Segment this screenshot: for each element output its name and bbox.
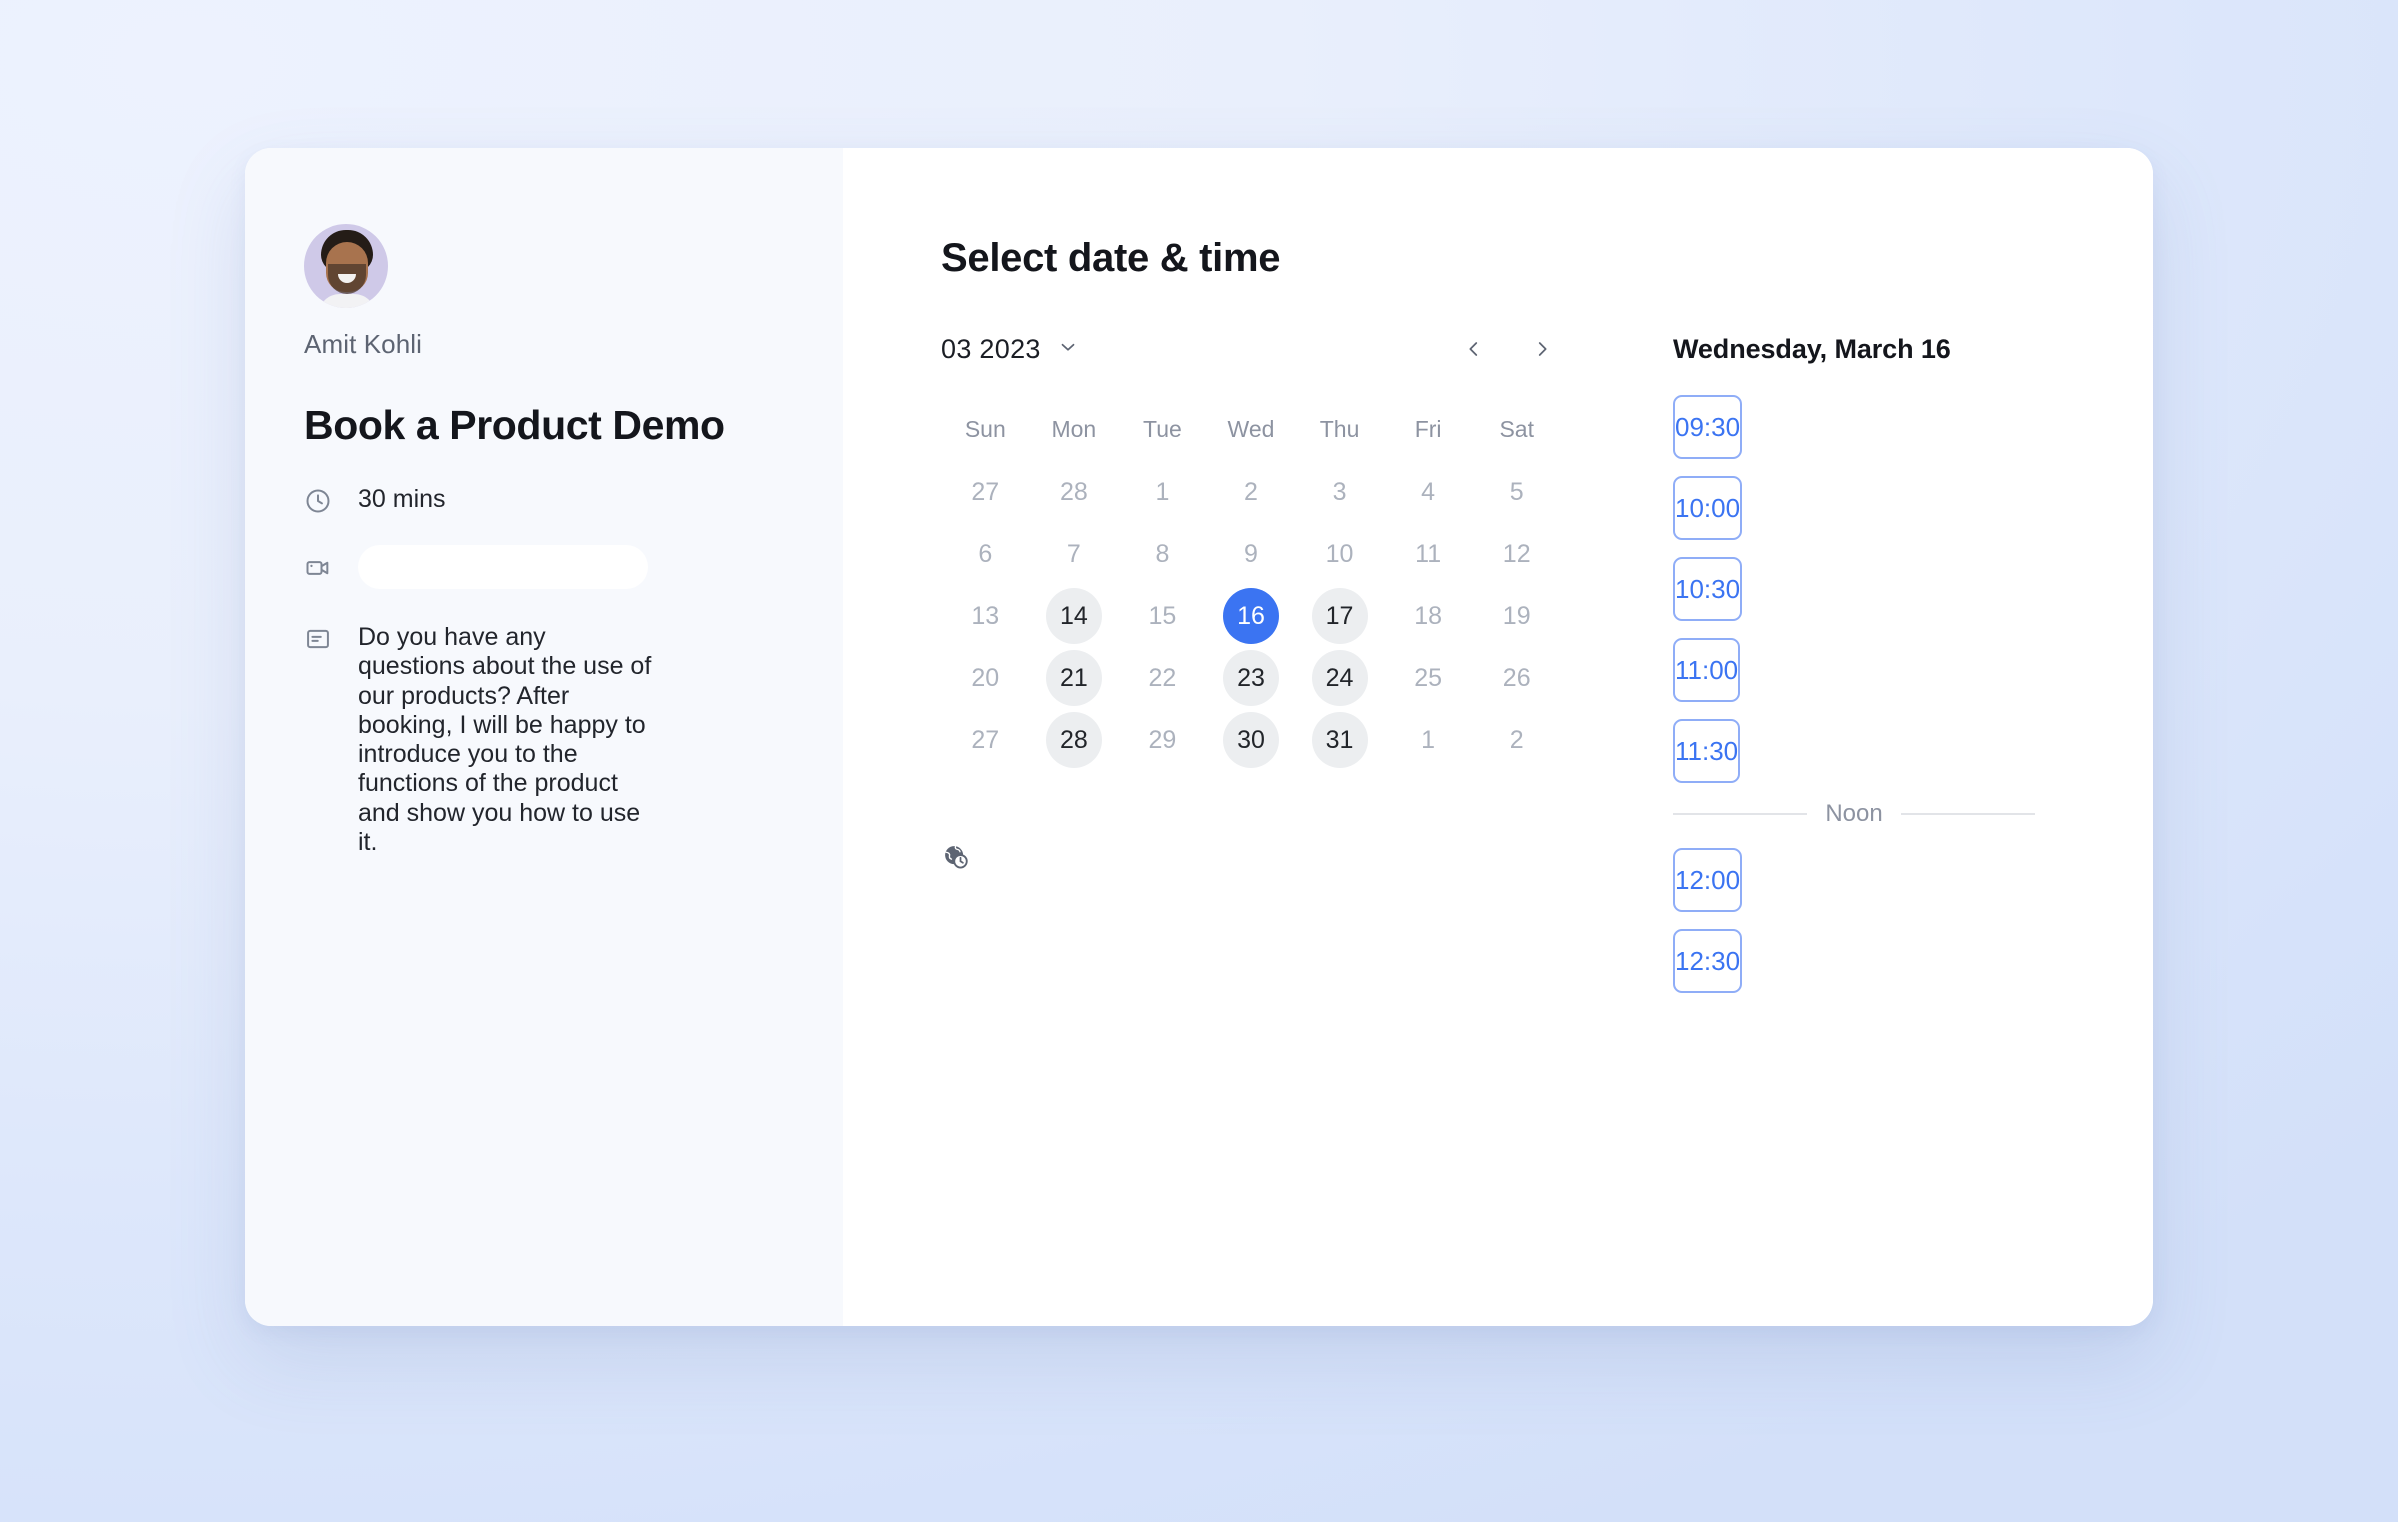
calendar-day-18: 18: [1400, 588, 1456, 644]
duration-row: 30 mins: [304, 485, 843, 515]
noon-divider: Noon: [1673, 800, 2035, 828]
calendar-day-12: 12: [1489, 526, 1545, 582]
description-icon: [304, 623, 338, 653]
calendar-day-28: 28: [1046, 464, 1102, 520]
prev-month-button[interactable]: [1461, 333, 1487, 365]
time-slot-1030[interactable]: 10:30: [1673, 557, 1742, 621]
calendar-day-2: 2: [1489, 712, 1545, 768]
calendar-week-row: 272829303112: [941, 709, 1561, 771]
calendar-day-26: 26: [1489, 650, 1545, 706]
divider-line-right: [1901, 813, 2035, 815]
selected-date-label: Wednesday, March 16: [1673, 329, 2035, 369]
calendar-week-row: 272812345: [941, 461, 1561, 523]
weekday-thu: Thu: [1295, 416, 1384, 443]
calendar: 03 2023: [941, 329, 1561, 1010]
calendar-day-5: 5: [1489, 464, 1545, 520]
calendar-day-9: 9: [1223, 526, 1279, 582]
weekday-sat: Sat: [1472, 416, 1561, 443]
weekday-header: SunMonTueWedThuFriSat: [941, 416, 1561, 443]
time-slot-1200[interactable]: 12:00: [1673, 848, 1742, 912]
event-description: Do you have any questions about the use …: [358, 623, 658, 857]
slot-list: 09:3010:0010:3011:0011:30Noon12:0012:30: [1673, 395, 2035, 993]
calendar-day-10: 10: [1312, 526, 1368, 582]
location-field[interactable]: [358, 545, 648, 589]
host-name: Amit Kohli: [304, 329, 843, 360]
weekday-mon: Mon: [1030, 416, 1119, 443]
time-slot-1000[interactable]: 10:00: [1673, 476, 1742, 540]
calendar-day-1: 1: [1400, 712, 1456, 768]
calendar-day-1: 1: [1134, 464, 1190, 520]
calendar-day-4: 4: [1400, 464, 1456, 520]
calendar-day-16[interactable]: 16: [1223, 588, 1279, 644]
event-details-panel: Amit Kohli Book a Product Demo 30 mins: [245, 148, 843, 1326]
calendar-day-30[interactable]: 30: [1223, 712, 1279, 768]
description-row: Do you have any questions about the use …: [304, 623, 843, 857]
calendar-header: 03 2023: [941, 329, 1561, 369]
calendar-day-27: 27: [957, 464, 1013, 520]
event-title: Book a Product Demo: [304, 402, 843, 449]
time-slots-panel: Wednesday, March 16 09:3010:0010:3011:00…: [1673, 329, 2035, 1010]
calendar-day-3: 3: [1312, 464, 1368, 520]
weekday-tue: Tue: [1118, 416, 1207, 443]
calendar-day-19: 19: [1489, 588, 1545, 644]
booking-card: Amit Kohli Book a Product Demo 30 mins: [245, 148, 2153, 1326]
calendar-day-17[interactable]: 17: [1312, 588, 1368, 644]
chevron-down-icon: [1057, 336, 1079, 363]
weekday-wed: Wed: [1207, 416, 1296, 443]
location-row: [304, 545, 843, 589]
time-slot-1130[interactable]: 11:30: [1673, 719, 1740, 783]
calendar-day-8: 8: [1134, 526, 1190, 582]
duration-label: 30 mins: [358, 485, 446, 515]
calendar-day-6: 6: [957, 526, 1013, 582]
calendar-day-14[interactable]: 14: [1046, 588, 1102, 644]
page-title: Select date & time: [941, 236, 2153, 281]
calendar-day-31[interactable]: 31: [1312, 712, 1368, 768]
calendar-grid: 2728123456789101112131415161718192021222…: [941, 461, 1561, 771]
calendar-day-28[interactable]: 28: [1046, 712, 1102, 768]
month-year-label: 03 2023: [941, 334, 1041, 365]
next-month-button[interactable]: [1529, 333, 1555, 365]
calendar-day-2: 2: [1223, 464, 1279, 520]
divider-line-left: [1673, 813, 1807, 815]
calendar-week-row: 13141516171819: [941, 585, 1561, 647]
calendar-day-11: 11: [1400, 526, 1456, 582]
calendar-week-row: 6789101112: [941, 523, 1561, 585]
date-time-panel: Select date & time 03 2023: [843, 148, 2153, 1326]
clock-icon: [304, 485, 338, 515]
month-year-selector[interactable]: 03 2023: [941, 334, 1079, 365]
time-slot-1100[interactable]: 11:00: [1673, 638, 1740, 702]
picker: 03 2023: [941, 329, 2153, 1010]
calendar-day-24[interactable]: 24: [1312, 650, 1368, 706]
calendar-nav: [1461, 333, 1555, 365]
calendar-day-7: 7: [1046, 526, 1102, 582]
weekday-sun: Sun: [941, 416, 1030, 443]
time-slot-1230[interactable]: 12:30: [1673, 929, 1742, 993]
calendar-day-15: 15: [1134, 588, 1190, 644]
video-camera-icon: [304, 552, 338, 582]
calendar-day-25: 25: [1400, 650, 1456, 706]
calendar-day-20: 20: [957, 650, 1013, 706]
calendar-day-27: 27: [957, 712, 1013, 768]
time-slot-0930[interactable]: 09:30: [1673, 395, 1742, 459]
avatar: [304, 224, 388, 308]
weekday-fri: Fri: [1384, 416, 1473, 443]
calendar-day-23[interactable]: 23: [1223, 650, 1279, 706]
calendar-day-29: 29: [1134, 712, 1190, 768]
noon-label: Noon: [1825, 800, 1882, 828]
avatar-shoulders: [318, 294, 376, 308]
calendar-week-row: 20212223242526: [941, 647, 1561, 709]
timezone-button[interactable]: [941, 839, 977, 875]
calendar-day-21[interactable]: 21: [1046, 650, 1102, 706]
calendar-day-22: 22: [1134, 650, 1190, 706]
calendar-day-13: 13: [957, 588, 1013, 644]
